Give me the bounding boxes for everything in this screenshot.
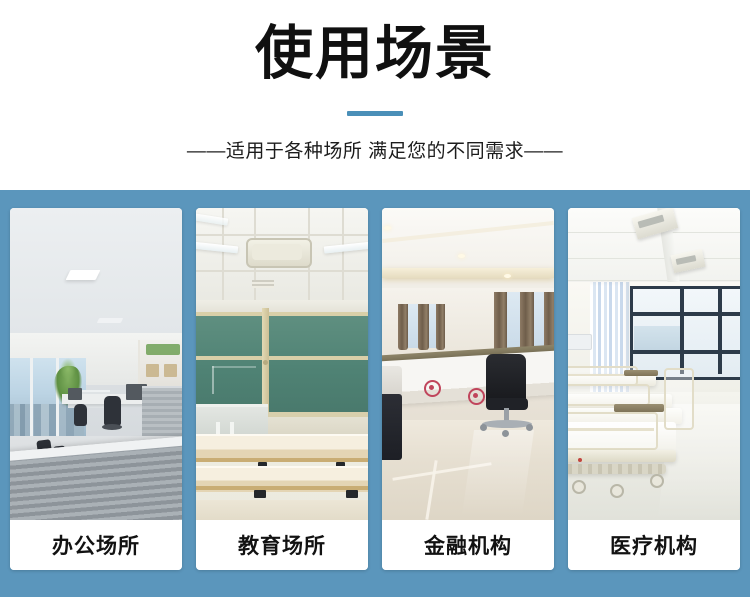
chalkboard-rail [196,356,368,360]
bed-tray-table [614,404,664,412]
chalkboard-knob [263,360,268,365]
bed-caster-wheel-icon [572,480,586,494]
reception-counter [10,436,182,520]
page-subtitle: ——适用于各种场所 满足您的不同需求—— [0,138,750,166]
projector-housing-inner [252,244,302,260]
shelf-box [146,364,159,377]
bed-frame [568,450,676,462]
downlight-icon [384,226,391,230]
scenario-card-medical[interactable]: 医疗机构 [568,208,740,570]
window-mullion [630,312,740,316]
ceiling-light-panel-icon [66,270,101,280]
bed-control-button-icon [578,458,582,462]
scenario-card-caption: 办公场所 [10,520,182,570]
ceiling-light-panel-secondary-icon [97,318,123,323]
ceiling-grid-line [568,258,740,259]
office-chair-icon [104,396,121,426]
bank-hall-photo [382,208,554,520]
window-mullion [630,350,740,354]
shelf-plant-icon [146,344,180,355]
ceiling-cove-light [382,268,554,278]
office-chair-base [102,424,122,430]
floor-reflection [462,430,534,516]
chalk-writing [212,366,256,394]
title-divider [347,111,403,116]
office-photo [10,208,182,520]
bank-chair-base [482,420,532,428]
chair-caster [480,424,487,431]
chair-caster [502,430,509,437]
bank-logo-icon [468,388,485,405]
desk-foot [346,490,358,498]
bed-foot-rail [664,368,694,430]
hospital-ward-photo [568,208,740,520]
desk-foot [254,490,266,498]
office-plant-leaves-icon [60,358,76,380]
curtain-icon [520,292,534,354]
scenario-card-office[interactable]: 办公场所 [10,208,182,570]
window-mullion [718,286,722,374]
bed-rail-bar [568,428,654,431]
monitor-icon [68,388,82,400]
page-header: 使用场景 ——适用于各种场所 满足您的不同需求—— [0,0,750,190]
chalkboard-tray [266,412,368,417]
wall-sign [568,334,592,350]
use-scenarios-page: 使用场景 ——适用于各种场所 满足您的不同需求—— [0,0,750,597]
bank-logo-icon [424,380,441,397]
shelf-box [164,364,177,377]
scenario-card-list: 办公场所 [10,208,740,570]
ceiling-grid-line [342,208,344,304]
classroom-floor [196,500,368,520]
page-title: 使用场景 [0,18,750,90]
curtain-icon [398,304,408,350]
window-mullion [680,286,684,374]
scenarios-band: 办公场所 [0,190,750,597]
ceiling-vent-icon [252,280,274,288]
office-chair-icon [74,404,87,426]
curtain-icon [418,304,429,350]
scenario-card-caption: 教育场所 [196,520,368,570]
bed-side-rail [568,412,658,450]
chair-caster [526,424,533,431]
city-skyline [10,404,84,438]
scenario-card-education[interactable]: 教育场所 [196,208,368,570]
downlight-icon [458,254,465,258]
ceiling-grid-line [568,280,740,281]
bed-base [568,464,666,474]
bed-side-rail [568,384,650,406]
downlight-icon [504,274,511,278]
scenario-card-caption: 医疗机构 [568,520,740,570]
bed-tray-table [624,370,658,376]
curtain-icon [494,292,507,354]
bed-caster-wheel-icon [610,484,624,498]
bed-caster-wheel-icon [650,474,664,488]
ceiling-grid-line [196,234,368,236]
classroom-photo [196,208,368,520]
ceiling-grid-line [196,270,368,272]
bank-ceiling [382,208,554,294]
scenario-card-finance[interactable]: 金融机构 [382,208,554,570]
curtain-icon [436,304,445,350]
scenario-card-caption: 金融机构 [382,520,554,570]
service-kiosk [382,394,402,460]
classroom-desk-edge [196,486,368,490]
window-mullion [30,358,33,440]
bed-side-rail [568,366,638,386]
